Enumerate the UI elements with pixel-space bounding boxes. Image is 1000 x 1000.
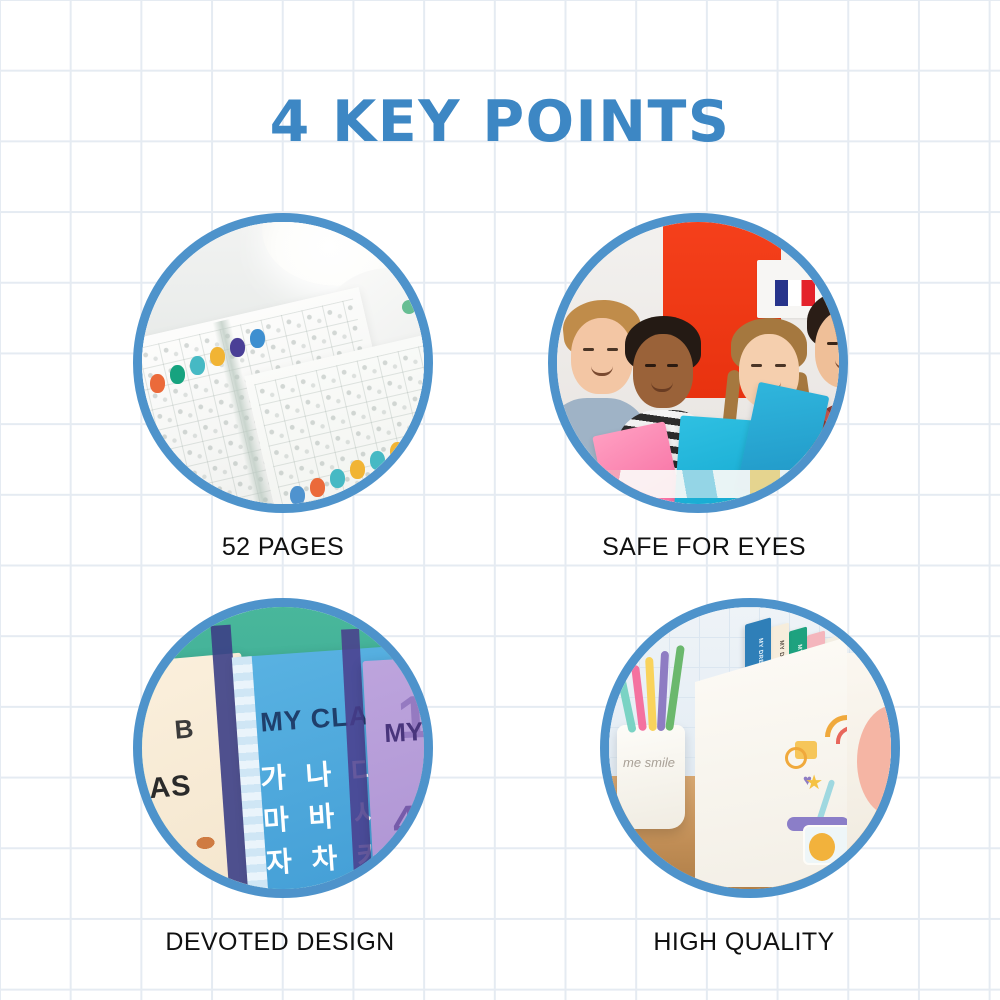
photo-frame-circle: A B C CLAS MY CLAS 가 나 다 마 바 사 자 차 카 파 하 bbox=[133, 598, 433, 898]
photo-open-workbook bbox=[142, 222, 424, 504]
page-title: 4 KEY POINTS bbox=[0, 94, 1000, 151]
smile bbox=[591, 366, 613, 376]
side-label-text: MY AR bbox=[882, 823, 891, 835]
second-file-holder: MY AR bbox=[841, 653, 891, 887]
index-tab-sticker bbox=[170, 365, 185, 384]
key-point-card-design: A B C CLAS MY CLAS 가 나 다 마 바 사 자 차 카 파 하 bbox=[133, 598, 433, 957]
card-caption-design: DEVOTED DESIGN bbox=[130, 928, 430, 957]
index-tab-sticker bbox=[290, 486, 305, 504]
index-tab-sticker bbox=[150, 374, 165, 393]
cup-text: me smile bbox=[623, 755, 675, 770]
student-boy-face bbox=[571, 318, 633, 394]
card-caption-eyes: SAFE FOR EYES bbox=[554, 533, 854, 562]
index-tab-sticker bbox=[190, 356, 205, 375]
smile bbox=[835, 360, 839, 370]
photo-students-with-notebooks bbox=[557, 222, 839, 504]
number-4: 4 bbox=[392, 797, 419, 848]
eye bbox=[645, 364, 656, 367]
eye bbox=[775, 364, 786, 367]
cover-title-purple: MY C bbox=[383, 715, 424, 749]
card-caption-pages: 52 PAGES bbox=[133, 533, 433, 562]
flag-decor bbox=[775, 280, 815, 306]
photo-notebook-covers: A B C CLAS MY CLAS 가 나 다 마 바 사 자 차 카 파 하 bbox=[142, 607, 424, 889]
index-tab-sticker bbox=[390, 442, 405, 461]
eye bbox=[583, 348, 594, 351]
photo-frame-circle bbox=[133, 213, 433, 513]
eye bbox=[827, 342, 838, 345]
index-tab-sticker bbox=[230, 338, 245, 357]
index-tab-sticker bbox=[210, 347, 225, 366]
eye bbox=[667, 364, 678, 367]
clock-icon bbox=[785, 747, 807, 769]
green-dot-accent bbox=[402, 300, 416, 314]
photo-magazine-file-holder: MY AR MY DREAM MATE MY DREAM MATE MY DRE… bbox=[609, 607, 891, 889]
index-tab-sticker bbox=[250, 329, 265, 348]
eye bbox=[751, 364, 762, 367]
student-girl2-face bbox=[633, 334, 693, 408]
pencil-cup: me smile bbox=[617, 725, 685, 829]
key-point-card-pages: 52 PAGES bbox=[133, 213, 433, 562]
index-tab-sticker bbox=[370, 451, 385, 470]
photo-frame-circle: MY AR MY DREAM MATE MY DREAM MATE MY DRE… bbox=[600, 598, 900, 898]
index-tab-sticker bbox=[310, 478, 325, 497]
notebook-cover-purple: 1 4 5 MY C bbox=[362, 653, 424, 889]
card-caption-quality: HIGH QUALITY bbox=[594, 928, 894, 957]
index-tab-sticker bbox=[410, 433, 424, 452]
infographic-page: 4 KEY POINTS bbox=[0, 0, 1000, 1000]
key-point-card-quality: MY AR MY DREAM MATE MY DREAM MATE MY DRE… bbox=[600, 598, 900, 957]
index-tab-sticker bbox=[350, 460, 365, 479]
photo-frame-circle bbox=[548, 213, 848, 513]
pink-blob-decor bbox=[857, 705, 891, 817]
eye bbox=[607, 348, 618, 351]
key-point-card-eyes: SAFE FOR EYES bbox=[548, 213, 848, 562]
smile bbox=[651, 382, 673, 392]
number-illustrations: 1 4 5 bbox=[373, 663, 424, 889]
cover-title-cream: CLAS bbox=[142, 770, 193, 810]
scattered-papers bbox=[585, 470, 835, 498]
index-tab-sticker bbox=[330, 469, 345, 488]
star-icon: ★ bbox=[805, 770, 823, 795]
